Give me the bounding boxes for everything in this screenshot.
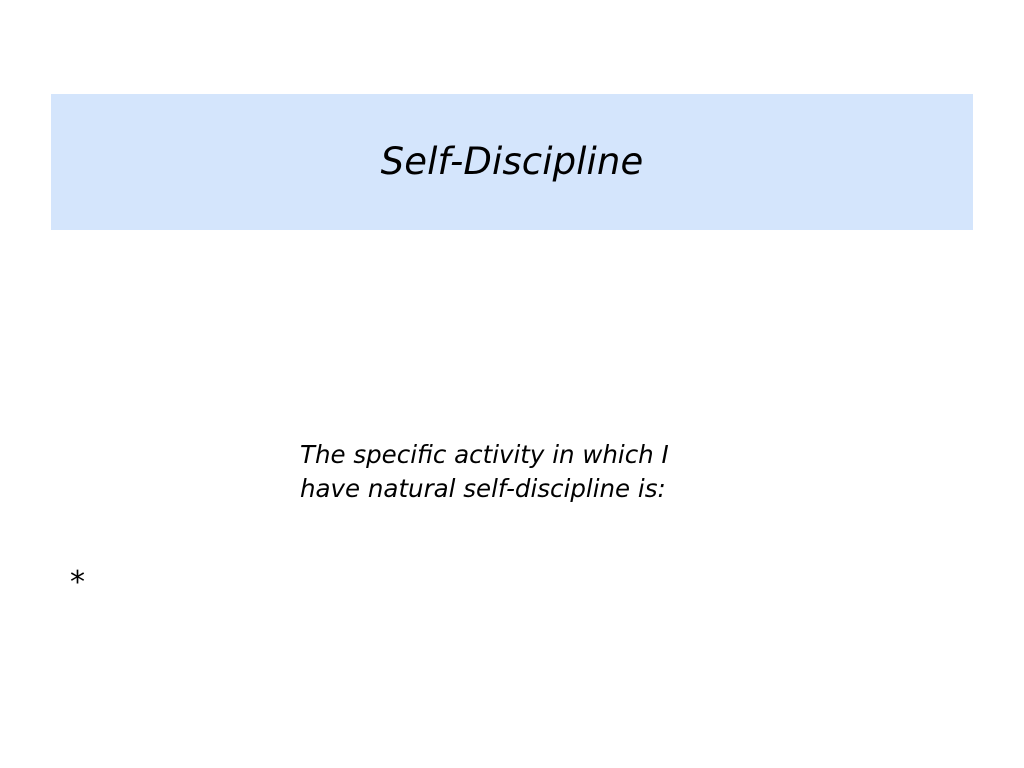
answer-bullet-asterisk: * xyxy=(70,568,85,598)
prompt-line-1: The specific activity in which I xyxy=(300,438,770,472)
prompt-text-block: The specific activity in which I have na… xyxy=(300,438,770,506)
prompt-line-2: have natural self-discipline is: xyxy=(300,472,770,506)
page-title: Self-Discipline xyxy=(381,142,644,183)
slide-canvas: Self-Discipline The specific activity in… xyxy=(0,0,1024,768)
title-banner: Self-Discipline xyxy=(51,94,973,230)
